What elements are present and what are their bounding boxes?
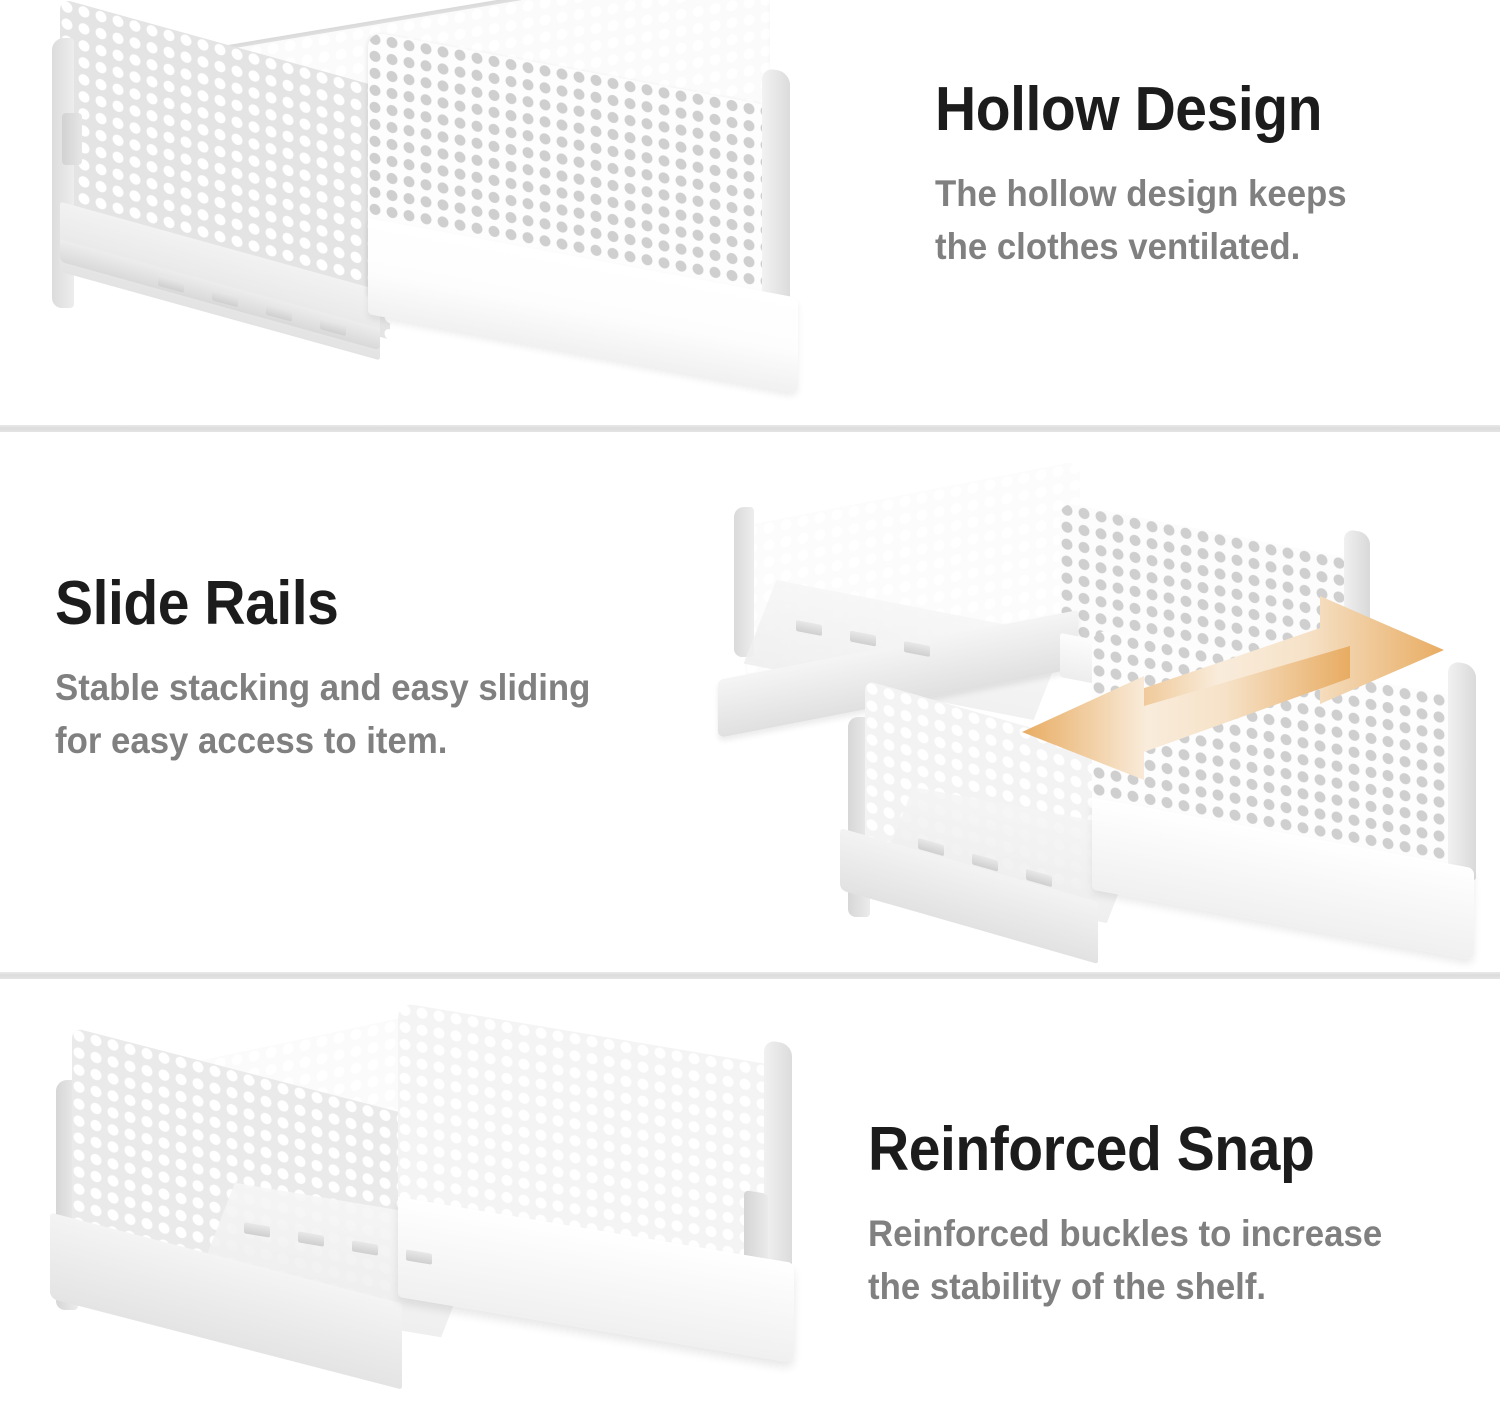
section-divider-1 [0,425,1500,432]
page-title-reinforced-snap: Reinforced Snap [868,1118,1438,1182]
section-reinforced-snap-body-line1: Reinforced buckles to increase [868,1208,1451,1261]
section-hollow-design-text: Hollow Design The hollow design keeps th… [935,78,1495,274]
section-hollow-design-body-line2: the clothes ventilated. [935,221,1461,274]
page-title-hollow-design: Hollow Design [935,78,1450,142]
section-reinforced-snap-text: Reinforced Snap Reinforced buckles to in… [868,1118,1488,1314]
section-slide-rails-body-line1: Stable stacking and easy sliding [55,662,704,715]
section-slide-rails-text: Slide Rails Stable stacking and easy sli… [55,572,745,768]
section-hollow-design-body-line1: The hollow design keeps [935,168,1461,221]
basket-left-buckle [62,113,82,165]
upper-basket-left-rail [734,507,754,657]
infographic-page: Hollow Design The hollow design keeps th… [0,0,1500,1410]
section-divider-2 [0,972,1500,979]
section-reinforced-snap-body-line2: the stability of the shelf. [868,1261,1451,1314]
lower-basket-corner-post [1448,660,1476,880]
bottom-basket-corner-post [764,1040,792,1285]
double-headed-slide-arrow-icon [1020,592,1450,782]
section-slide-rails-body-line2: for easy access to item. [55,715,704,768]
product-image-hollow-design [38,8,798,408]
page-title-slide-rails: Slide Rails [55,572,690,636]
basket-corner-post [762,67,790,302]
product-image-reinforced-snap [38,1020,838,1410]
